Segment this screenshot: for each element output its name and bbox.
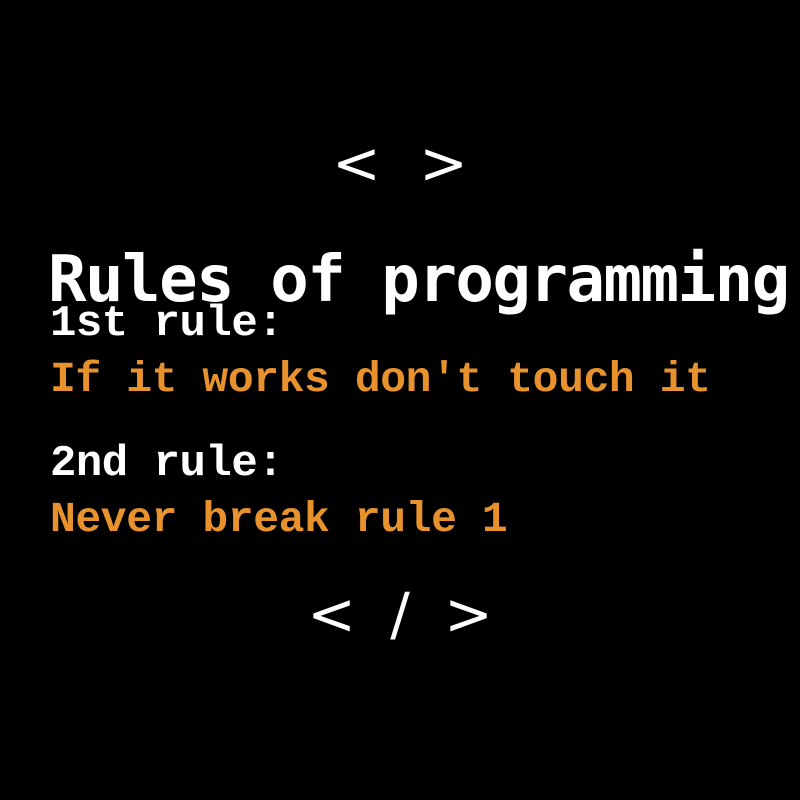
code-close-tag-icon: < / > bbox=[0, 583, 800, 645]
rules-list: 1st rule: If it works don't touch it 2nd… bbox=[50, 297, 790, 549]
rule-text-1: If it works don't touch it bbox=[50, 351, 790, 409]
list-item: 1st rule: If it works don't touch it bbox=[50, 297, 790, 409]
code-open-tag-icon: < > bbox=[0, 132, 800, 194]
rule-label-1: 1st rule: bbox=[50, 297, 790, 351]
rule-label-2: 2nd rule: bbox=[50, 437, 790, 491]
poster-canvas: < > Rules of programming 1st rule: If it… bbox=[0, 0, 800, 800]
rule-text-2: Never break rule 1 bbox=[50, 491, 790, 549]
list-item: 2nd rule: Never break rule 1 bbox=[50, 437, 790, 549]
